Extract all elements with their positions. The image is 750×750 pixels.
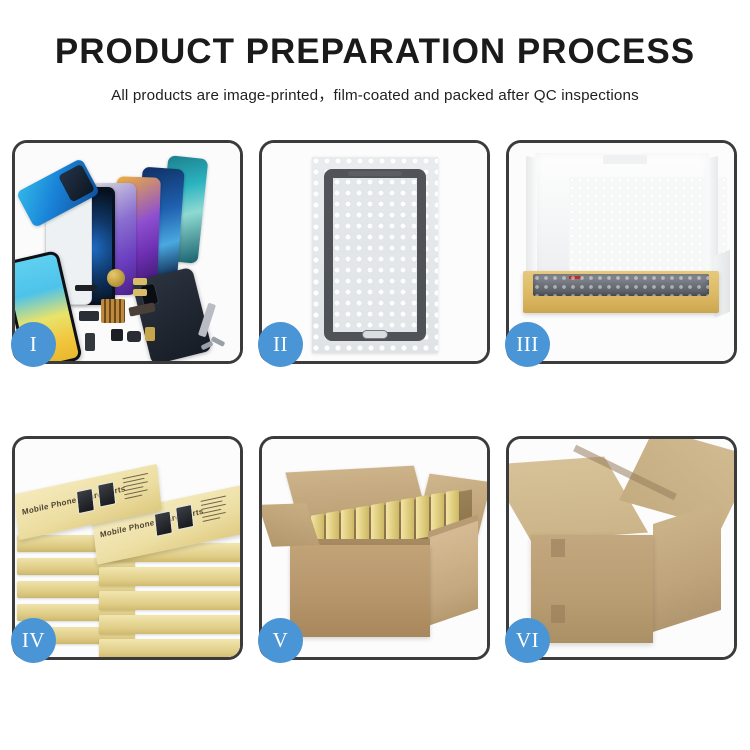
step-badge-1: I bbox=[11, 322, 56, 367]
step-badge-2: II bbox=[258, 322, 303, 367]
page-subtitle: All products are image-printed，film-coat… bbox=[0, 83, 750, 105]
lid-phone-print-icon bbox=[175, 504, 194, 531]
red-label-icon bbox=[569, 276, 581, 279]
lid-spec-text-icon bbox=[200, 495, 232, 527]
carton-side-icon bbox=[430, 521, 478, 626]
process-step-panel-2[interactable]: II bbox=[259, 140, 490, 364]
carton-tape-upper-icon bbox=[551, 539, 565, 557]
lid-phone-print-icon bbox=[76, 488, 95, 515]
part-camera-icon bbox=[111, 329, 123, 341]
process-step-panel-1[interactable]: I bbox=[12, 140, 243, 364]
process-step-grid: I II bbox=[12, 140, 738, 660]
lid-phone-print-icon bbox=[97, 481, 116, 508]
wrapped-screen-icon bbox=[324, 169, 426, 341]
foam-sheet-icon bbox=[569, 177, 727, 281]
part-bracket-icon bbox=[79, 311, 99, 321]
part-speaker-icon bbox=[127, 331, 141, 342]
process-step-panel-6[interactable]: VI bbox=[506, 436, 737, 660]
carton-side-icon bbox=[653, 502, 721, 632]
tool-screwdriver-a-icon bbox=[211, 336, 226, 347]
step-badge-6: VI bbox=[505, 618, 550, 663]
step-badge-4: IV bbox=[11, 618, 56, 663]
bubble-wrap-sheet-icon bbox=[312, 157, 438, 353]
page-title: PRODUCT PREPARATION PROCESS bbox=[0, 34, 750, 69]
step-badge-3: III bbox=[505, 322, 550, 367]
process-step-panel-5[interactable]: V bbox=[259, 436, 490, 660]
lid-phone-print-icon bbox=[154, 510, 173, 537]
stacked-box bbox=[99, 567, 240, 586]
carton-front-icon bbox=[290, 545, 430, 637]
step-badge-5: V bbox=[258, 618, 303, 663]
lid-spec-text-icon bbox=[123, 472, 155, 504]
part-flex-a-icon bbox=[133, 278, 147, 285]
part-coil-icon bbox=[107, 269, 125, 287]
part-gold-clip-icon bbox=[145, 327, 155, 341]
process-step-panel-3[interactable]: III bbox=[506, 140, 737, 364]
process-step-panel-4[interactable]: Mobile Phone Spare Parts Mobile Phone Sp… bbox=[12, 436, 243, 660]
carton-tape-lower-icon bbox=[551, 605, 565, 623]
part-button-icon bbox=[85, 333, 95, 351]
part-connector-icon bbox=[75, 285, 97, 291]
stacked-box bbox=[99, 615, 240, 634]
packed-screen-icon bbox=[533, 274, 709, 296]
carton-front-icon bbox=[531, 535, 653, 643]
page-header: PRODUCT PREPARATION PROCESS All products… bbox=[0, 0, 750, 105]
stacked-box bbox=[99, 591, 240, 610]
earpiece-slot-icon bbox=[348, 171, 402, 176]
home-button-icon bbox=[362, 330, 389, 339]
box-lid-icon bbox=[535, 153, 709, 279]
stacked-box bbox=[99, 639, 240, 657]
part-chip-icon bbox=[101, 299, 125, 323]
lid-tab-icon bbox=[603, 155, 647, 164]
kraft-tray-icon bbox=[523, 271, 719, 313]
part-flex-b-icon bbox=[133, 289, 147, 296]
